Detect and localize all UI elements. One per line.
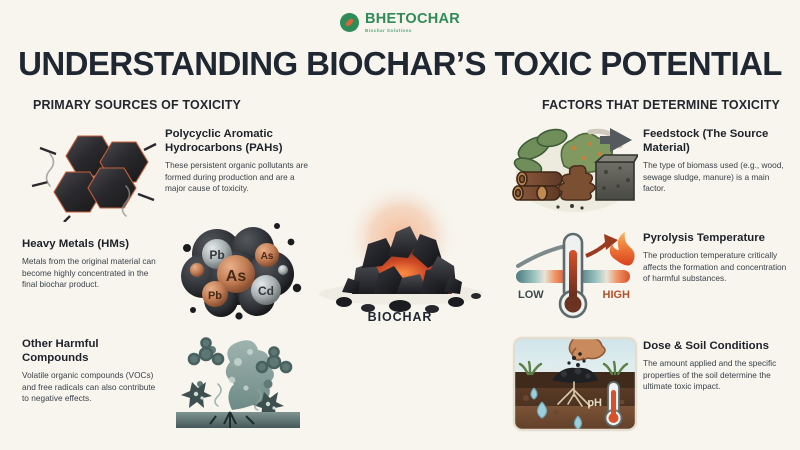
left-column-heading: PRIMARY SOURCES OF TOXICITY bbox=[33, 98, 241, 112]
feedstock-biomass-icon bbox=[512, 122, 638, 212]
brand-logo: BHETOCHAR Biochar Solutions bbox=[0, 12, 800, 34]
factor-title: Pyrolysis Temperature bbox=[643, 232, 789, 246]
thermometer-flame-icon: LOW HIGH bbox=[512, 228, 638, 324]
source-block-other-compounds: Other Harmful Compounds Volatile organic… bbox=[22, 338, 162, 405]
brand-name: BHETOCHAR bbox=[365, 12, 460, 27]
voc-vapor-plume-icon bbox=[172, 332, 304, 432]
source-block-heavy-metals: Heavy Metals (HMs) Metals from the origi… bbox=[22, 238, 162, 291]
factor-block-pyrolysis: Pyrolysis Temperature The production tem… bbox=[643, 232, 789, 285]
factor-body: The production temperature critically af… bbox=[643, 250, 789, 285]
source-title: Other Harmful Compounds bbox=[22, 338, 162, 366]
element-label: Pb bbox=[208, 290, 222, 302]
source-block-pah: Polycyclic Aromatic Hydrocarbons (PAHs) … bbox=[165, 128, 313, 195]
source-body: Metals from the original material can be… bbox=[22, 256, 162, 291]
scale-low-label: LOW bbox=[518, 289, 544, 301]
biochar-leaf-icon bbox=[340, 13, 359, 32]
element-label: As bbox=[261, 251, 274, 262]
page-title: UNDERSTANDING BIOCHAR’S TOXIC POTENTIAL bbox=[0, 45, 800, 83]
factor-body: The amount applied and the specific prop… bbox=[643, 358, 789, 393]
factor-block-feedstock: Feedstock (The Source Material) The type… bbox=[643, 128, 789, 195]
element-label: Cd bbox=[258, 284, 274, 298]
scale-high-label: HIGH bbox=[603, 289, 631, 301]
pah-hexagon-rings-icon bbox=[26, 124, 158, 222]
brand-text: BHETOCHAR Biochar Solutions bbox=[365, 12, 460, 34]
right-column-heading: FACTORS THAT DETERMINE TOXICITY bbox=[542, 98, 780, 112]
source-title: Polycyclic Aromatic Hydrocarbons (PAHs) bbox=[165, 128, 313, 156]
factor-title: Feedstock (The Source Material) bbox=[643, 128, 789, 156]
center-label: BIOCHAR bbox=[0, 310, 800, 324]
soil-cross-section-icon: pH bbox=[512, 336, 638, 432]
heavy-metal-particles-icon: Pb As As Pb Cd bbox=[173, 214, 307, 322]
factor-title: Dose & Soil Conditions bbox=[643, 340, 789, 354]
factor-block-dose-soil: Dose & Soil Conditions The amount applie… bbox=[643, 340, 789, 393]
factor-body: The type of biomass used (e.g., wood, se… bbox=[643, 160, 789, 195]
infographic-page: BHETOCHAR Biochar Solutions UNDERSTANDIN… bbox=[0, 0, 800, 450]
ph-label: pH bbox=[587, 397, 602, 409]
biochar-pile-illustration bbox=[296, 182, 506, 317]
element-label: Pb bbox=[209, 248, 224, 262]
source-body: These persistent organic pollutants are … bbox=[165, 160, 313, 195]
brand-tagline: Biochar Solutions bbox=[365, 29, 460, 34]
element-label: As bbox=[226, 268, 247, 285]
source-body: Volatile organic compounds (VOCs) and fr… bbox=[22, 370, 162, 405]
source-title: Heavy Metals (HMs) bbox=[22, 238, 162, 252]
